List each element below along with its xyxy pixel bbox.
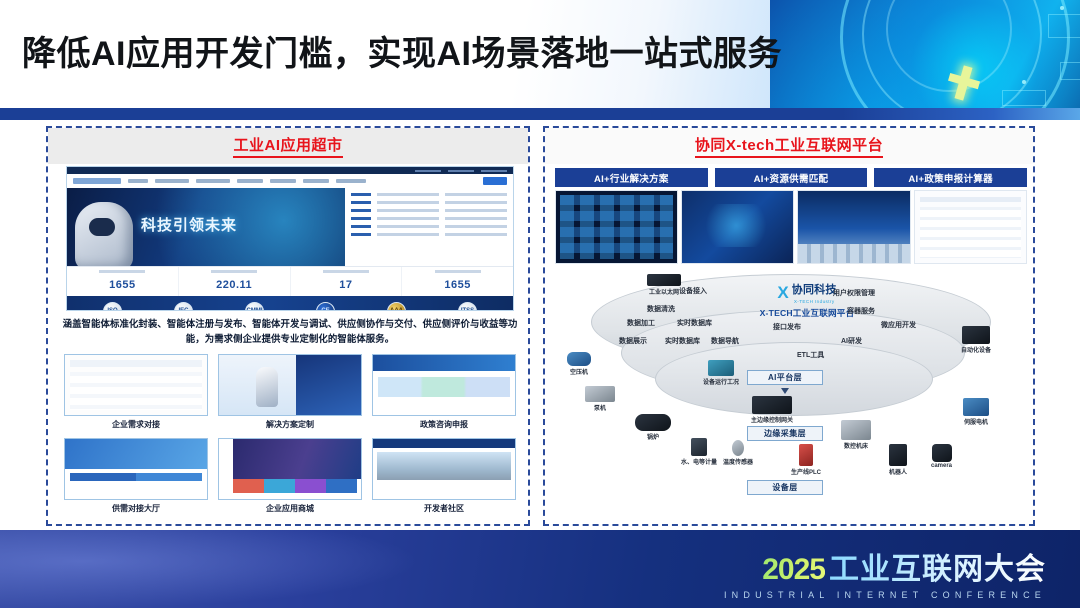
aaa-badge-icon: AAA xyxy=(387,302,406,312)
logo-subtitle: X-TECH Industry xyxy=(792,299,837,304)
screenshot-thumbnail xyxy=(64,438,208,500)
screenshot-card[interactable]: 企业需求对接 xyxy=(64,354,208,430)
stat-item: 1655 xyxy=(67,267,179,296)
platform-label-ai-rd: AI研发 xyxy=(841,336,862,346)
screenshot-card[interactable]: 政策咨询申报 xyxy=(372,354,516,430)
stat-label-placeholder xyxy=(211,270,257,273)
marketplace-hero-screenshot: 科技引领未来 1655 220.11 xyxy=(66,166,514,311)
platform-architecture-diagram: X 协同科技 X-TECH Industry X-TECH工业互联网平台 设备接… xyxy=(551,268,1031,522)
device-air-compressor: 空压机 xyxy=(567,352,591,376)
conference-name-en: INDUSTRIAL INTERNET CONFERENCE xyxy=(724,590,1046,600)
device-caption: 锅炉 xyxy=(635,432,671,441)
form-page-screenshot xyxy=(914,190,1027,264)
stat-label-placeholder xyxy=(323,270,369,273)
hero-topbar xyxy=(67,167,513,174)
hero-banner: 科技引领未来 xyxy=(67,188,345,266)
temperature-sensor-icon xyxy=(732,440,744,456)
device-caption: 伺服电机 xyxy=(963,417,989,426)
topbar-link-icon xyxy=(448,170,474,172)
footer-glow xyxy=(0,530,420,608)
conference-year: 2025 xyxy=(762,553,825,587)
device-caption: 温度传感器 xyxy=(723,457,753,466)
ce-badge-icon: CE xyxy=(316,302,335,312)
topbar-link-icon xyxy=(481,170,507,172)
meter-icon xyxy=(691,438,707,456)
screenshot-card[interactable]: 解决方案定制 xyxy=(218,354,362,430)
category-row xyxy=(351,225,507,228)
stat-item: 220.11 xyxy=(179,267,291,296)
device-industrial-ethernet: 工业以太网 xyxy=(647,274,681,296)
automation-device-icon xyxy=(962,326,990,344)
device-cnc-machine: 数控机床 xyxy=(841,420,871,450)
device-caption: 泵机 xyxy=(585,403,615,412)
conference-logo: 2025 工业互联网大会 INDUSTRIAL INTERNET CONFERE… xyxy=(724,544,1046,600)
left-panel: 工业AI应用超市 科技 xyxy=(46,126,530,526)
nav-item xyxy=(237,179,263,183)
page-footer: 2025 工业互联网大会 INDUSTRIAL INTERNET CONFERE… xyxy=(0,530,1080,608)
screenshot-card[interactable]: 供需对接大厅 xyxy=(64,438,208,514)
screenshot-thumbnail xyxy=(218,354,362,416)
screenshot-caption: 供需对接大厅 xyxy=(64,503,208,514)
iso-badge-icon: ISO xyxy=(103,302,122,312)
platform-label-api-publish: 接口发布 xyxy=(773,322,801,332)
platform-label-data-processing: 数据加工 xyxy=(627,318,655,328)
right-panel-title-bar: 协同X-tech工业互联网平台 xyxy=(545,128,1033,164)
platform-label-data-display: 数据展示 xyxy=(619,336,647,346)
device-operating-status: 设备运行工况 xyxy=(703,360,739,386)
nav-item xyxy=(270,179,296,183)
layer-ai-platform: AI平台层 xyxy=(747,370,823,385)
platform-label-realtime-db-2: 实时数据库 xyxy=(665,336,700,346)
stat-value: 17 xyxy=(339,279,352,291)
hero-login-button xyxy=(483,177,507,185)
screenshot-card[interactable]: 企业应用商城 xyxy=(218,438,362,514)
circuit-chip-icon xyxy=(1002,90,1046,106)
gateway-caption: 主边缘控制网关 xyxy=(751,415,793,424)
iec-badge-icon: IEC xyxy=(174,302,193,312)
dashboard-screenshot xyxy=(555,190,678,264)
stat-value: 220.11 xyxy=(216,279,252,291)
device-caption: 空压机 xyxy=(567,367,591,376)
page-title: 降低AI应用开发门槛，实现AI场景落地一站式服务 xyxy=(22,26,782,75)
device-caption: 机器人 xyxy=(889,467,907,476)
device-boiler: 锅炉 xyxy=(635,414,671,441)
device-meter: 水、电等计量 xyxy=(681,438,717,466)
hero-category-list xyxy=(345,188,513,266)
robot-arm-icon xyxy=(889,444,907,466)
servo-motor-icon xyxy=(963,398,989,416)
left-panel-description: 涵盖智能体标准化封装、智能体注册与发布、智能体开发与调试、供应侧协作与交付、供应… xyxy=(62,317,518,346)
device-camera: camera xyxy=(931,444,952,469)
device-temp-sensor: 温度传感器 xyxy=(723,440,753,466)
site-logo-icon xyxy=(73,178,121,184)
platform-label-data-cleaning: 数据清洗 xyxy=(647,304,675,314)
air-compressor-icon xyxy=(567,352,591,366)
screenshot-card[interactable]: 开发者社区 xyxy=(372,438,516,514)
right-panel: 协同X-tech工业互联网平台 AI+行业解决方案 AI+资源供需匹配 AI+政… xyxy=(543,126,1035,526)
platform-label-user-permission: 用户权限管理 xyxy=(833,288,875,298)
device-servo-motor: 伺服电机 xyxy=(963,398,989,426)
device-production-plc: 生产线PLC xyxy=(791,444,821,476)
screenshot-thumbnail xyxy=(218,438,362,500)
itss-badge-icon: ITSS xyxy=(458,302,477,312)
platform-label-etl: ETL工具 xyxy=(797,350,824,360)
device-pump: 泵机 xyxy=(585,386,615,412)
screenshot-thumbnail xyxy=(372,438,516,500)
hero-navbar xyxy=(67,174,513,188)
tab-policy-calculator[interactable]: AI+政策申报计算器 xyxy=(874,168,1027,187)
circuit-chip-icon xyxy=(1048,14,1080,38)
status-monitor-icon xyxy=(708,360,734,376)
hero-stats-row: 1655 220.11 17 1655 xyxy=(67,266,513,296)
category-row xyxy=(351,209,507,212)
nav-item xyxy=(128,179,148,183)
category-row xyxy=(351,201,507,204)
stat-value: 1655 xyxy=(444,279,470,291)
tab-industry-solutions[interactable]: AI+行业解决方案 xyxy=(555,168,708,187)
x-mark-icon: X xyxy=(777,284,788,301)
cnc-machine-icon xyxy=(841,420,871,440)
edge-gateway-device: 主边缘控制网关 xyxy=(751,396,793,424)
screenshot-thumbnail xyxy=(64,354,208,416)
screenshot-caption: 企业需求对接 xyxy=(64,419,208,430)
nav-item xyxy=(196,179,230,183)
platform-label-container: 容器服务 xyxy=(847,306,875,316)
platform-label-device-access: 设备接入 xyxy=(679,286,707,296)
left-panel-title-bar: 工业AI应用超市 xyxy=(48,128,528,164)
category-row xyxy=(351,193,507,196)
robot-illustration-icon xyxy=(75,202,133,266)
platform-label-micro-app: 微应用开发 xyxy=(881,320,916,330)
plc-icon xyxy=(799,444,813,466)
node-dot-icon xyxy=(1022,80,1026,84)
pump-icon xyxy=(585,386,615,402)
screenshot-caption: 企业应用商城 xyxy=(218,503,362,514)
circuit-chip-icon xyxy=(1060,62,1080,80)
layer-device: 设备层 xyxy=(747,480,823,495)
platform-label-realtime-db: 实时数据库 xyxy=(677,318,712,328)
device-caption: camera xyxy=(931,463,952,469)
stat-item: 17 xyxy=(291,267,403,296)
logo-name: 协同科技 xyxy=(792,284,837,296)
tab-resource-matching[interactable]: AI+资源供需匹配 xyxy=(715,168,868,187)
ethernet-switch-icon xyxy=(647,274,681,286)
conference-hall-screenshot xyxy=(797,190,910,264)
platform-label-data-nav: 数据导航 xyxy=(711,336,739,346)
screenshot-caption: 解决方案定制 xyxy=(218,419,362,430)
nav-item xyxy=(303,179,329,183)
device-automation: 自动化设备 xyxy=(961,326,991,354)
category-row xyxy=(351,233,507,236)
stat-value: 1655 xyxy=(109,279,135,291)
cmmi-badge-icon: CMMI xyxy=(245,302,264,312)
device-caption: 设备运行工况 xyxy=(703,377,739,386)
conference-name-cn: 工业互联网大会 xyxy=(829,544,1046,588)
device-caption: 水、电等计量 xyxy=(681,457,717,466)
device-caption: 工业以太网 xyxy=(647,287,681,296)
nav-item xyxy=(155,179,189,183)
gateway-icon xyxy=(752,396,792,414)
boiler-icon xyxy=(635,414,671,431)
hero-middle: 科技引领未来 xyxy=(67,188,513,266)
flow-arrow-icon xyxy=(781,388,789,394)
camera-icon xyxy=(932,444,952,462)
node-dot-icon xyxy=(1060,6,1064,10)
layer-edge-collection: 边缘采集层 xyxy=(747,426,823,441)
page-header: 降低AI应用开发门槛，实现AI场景落地一站式服务 xyxy=(0,0,1080,108)
device-caption: 数控机床 xyxy=(841,441,871,450)
header-tech-graphic xyxy=(770,0,1080,108)
device-robot-arm: 机器人 xyxy=(889,444,907,476)
category-row xyxy=(351,217,507,220)
capability-tabs: AI+行业解决方案 AI+资源供需匹配 AI+政策申报计算器 xyxy=(555,168,1027,187)
left-panel-title: 工业AI应用超市 xyxy=(233,134,342,158)
stat-item: 1655 xyxy=(402,267,513,296)
header-divider xyxy=(0,108,1080,120)
screenshot-thumbnail xyxy=(372,354,516,416)
stat-label-placeholder xyxy=(99,270,145,273)
nav-item xyxy=(336,179,366,183)
screenshot-caption: 开发者社区 xyxy=(372,503,516,514)
device-caption: 生产线PLC xyxy=(791,467,821,476)
platform-screenshot-strip xyxy=(555,190,1027,264)
certification-badges: ISO IEC CMMI CE AAA ITSS xyxy=(67,296,513,311)
device-caption: 自动化设备 xyxy=(961,345,991,354)
topbar-link-icon xyxy=(415,170,441,172)
screenshot-caption: 政策咨询申报 xyxy=(372,419,516,430)
stat-label-placeholder xyxy=(435,270,481,273)
hero-banner-text: 科技引领未来 xyxy=(141,214,237,235)
right-panel-title: 协同X-tech工业互联网平台 xyxy=(695,134,883,158)
screenshot-grid: 企业需求对接 解决方案定制 政策咨询申报 供需对接大厅 企业应用商城 开发者社区 xyxy=(64,354,516,514)
ai-visual-screenshot xyxy=(681,190,794,264)
content-stage: 工业互联网 Alliance of Industrial Internet 工业… xyxy=(0,120,1080,530)
